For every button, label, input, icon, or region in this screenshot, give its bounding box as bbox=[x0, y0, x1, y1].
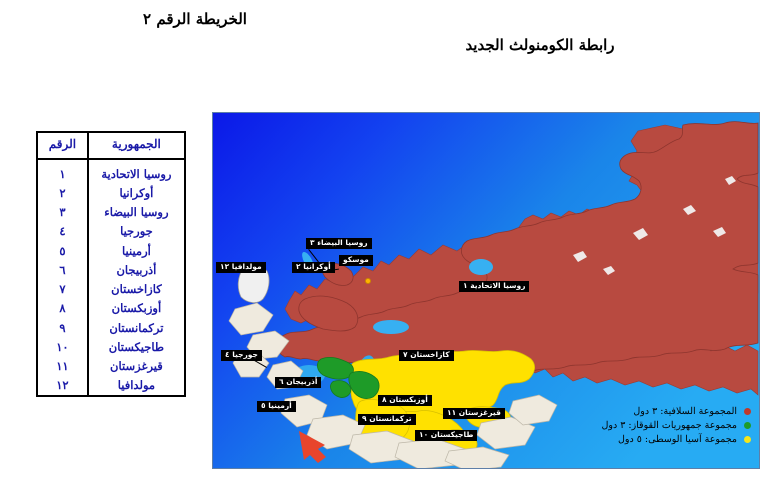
republic-number: ٣ bbox=[37, 203, 88, 222]
table-row: طاجيكستان١٠ bbox=[37, 338, 185, 357]
legend-label-central-asia: مجموعة آسيا الوسطى: ٥ دول bbox=[618, 434, 737, 445]
republic-number: ١٢ bbox=[37, 376, 88, 396]
map-number-title: الخريطة الرقم ٢ bbox=[100, 10, 290, 28]
map-main-title: رابطة الكومنولث الجديد bbox=[405, 36, 675, 54]
republic-number: ١ bbox=[37, 159, 88, 184]
map-legend: المجموعة السلافية: ٣ دول مجموعة جمهوريات… bbox=[602, 403, 752, 448]
map-page: الخريطة الرقم ٢ رابطة الكومنولث الجديد ا… bbox=[0, 0, 770, 481]
cis-map: روسيا الاتحادية ١ روسيا البيضاء ٣ أوكران… bbox=[212, 112, 760, 469]
republic-name: قيرغزستان bbox=[88, 357, 185, 376]
map-label-armenia: أرمينيا ٥ bbox=[257, 401, 296, 412]
republic-name: روسيا الاتحادية bbox=[88, 159, 185, 184]
republic-name: أذربيجان bbox=[88, 261, 185, 280]
legend-swatch-caucasus-icon bbox=[744, 422, 751, 429]
map-label-turkmenistan: تركمانستان ٩ bbox=[358, 414, 416, 425]
republic-number: ١٠ bbox=[37, 338, 88, 357]
moscow-capital-dot bbox=[365, 278, 371, 284]
republic-name: طاجيكستان bbox=[88, 338, 185, 357]
table-header-number: الرقم bbox=[37, 132, 88, 159]
republic-name: كازاخستان bbox=[88, 280, 185, 299]
republic-number: ٧ bbox=[37, 280, 88, 299]
republic-name: أوزبكستان bbox=[88, 299, 185, 318]
map-label-azerbaijan: أذربيجان ٦ bbox=[275, 377, 321, 388]
map-label-tajikistan: طاجيكستان ١٠ bbox=[415, 430, 477, 441]
republics-table: الجمهورية الرقم روسيا الاتحادية١ أوكراني… bbox=[36, 131, 186, 397]
table-row: روسيا البيضاء٣ bbox=[37, 203, 185, 222]
map-label-belarus: روسيا البيضاء ٣ bbox=[306, 238, 372, 249]
table-row: أوزبكستان٨ bbox=[37, 299, 185, 318]
map-label-russia: روسيا الاتحادية ١ bbox=[459, 281, 529, 292]
republic-name: أرمينيا bbox=[88, 242, 185, 261]
map-label-kazakhstan: كازاخستان ٧ bbox=[399, 350, 454, 361]
table-header-row: الجمهورية الرقم bbox=[37, 132, 185, 159]
republic-name: جورجيا bbox=[88, 222, 185, 241]
map-label-georgia: جورجيا ٤ bbox=[221, 350, 262, 361]
sea-patch-2 bbox=[373, 320, 409, 334]
republic-number: ٤ bbox=[37, 222, 88, 241]
table-row: تركمانستان٩ bbox=[37, 319, 185, 338]
republic-number: ٦ bbox=[37, 261, 88, 280]
map-label-uzbekistan: أوزبكستان ٨ bbox=[378, 395, 432, 406]
republic-number: ١١ bbox=[37, 357, 88, 376]
legend-label-slavic: المجموعة السلافية: ٣ دول bbox=[633, 406, 737, 417]
table-row: مولدافيا١٢ bbox=[37, 376, 185, 396]
legend-row-central-asia: مجموعة آسيا الوسطى: ٥ دول bbox=[602, 434, 752, 445]
table-row: قيرغزستان١١ bbox=[37, 357, 185, 376]
table-row: جورجيا٤ bbox=[37, 222, 185, 241]
table-row: أذربيجان٦ bbox=[37, 261, 185, 280]
republic-number: ٢ bbox=[37, 184, 88, 203]
republic-name: روسيا البيضاء bbox=[88, 203, 185, 222]
legend-row-caucasus: مجموعة جمهوريات القوقاز: ٣ دول bbox=[602, 420, 752, 431]
republic-number: ٨ bbox=[37, 299, 88, 318]
republic-number: ٩ bbox=[37, 319, 88, 338]
legend-swatch-central-asia-icon bbox=[744, 436, 751, 443]
legend-swatch-slavic-icon bbox=[744, 408, 751, 415]
republic-name: تركمانستان bbox=[88, 319, 185, 338]
table-row: أوكرانيا٢ bbox=[37, 184, 185, 203]
legend-row-slavic: المجموعة السلافية: ٣ دول bbox=[602, 406, 752, 417]
map-label-moscow: موسكو bbox=[339, 255, 373, 266]
republic-number: ٥ bbox=[37, 242, 88, 261]
map-label-moldova: مولدافيا ١٢ bbox=[216, 262, 266, 273]
table-header-name: الجمهورية bbox=[88, 132, 185, 159]
republic-name: أوكرانيا bbox=[88, 184, 185, 203]
table-row: روسيا الاتحادية١ bbox=[37, 159, 185, 184]
sea-patch-1 bbox=[469, 259, 493, 275]
table-row: كازاخستان٧ bbox=[37, 280, 185, 299]
legend-label-caucasus: مجموعة جمهوريات القوقاز: ٣ دول bbox=[602, 420, 738, 431]
table-body: روسيا الاتحادية١ أوكرانيا٢ روسيا البيضاء… bbox=[37, 159, 185, 397]
map-label-kyrgyzstan: قيرغزستان ١١ bbox=[443, 408, 505, 419]
table-row: أرمينيا٥ bbox=[37, 242, 185, 261]
republic-name: مولدافيا bbox=[88, 376, 185, 396]
